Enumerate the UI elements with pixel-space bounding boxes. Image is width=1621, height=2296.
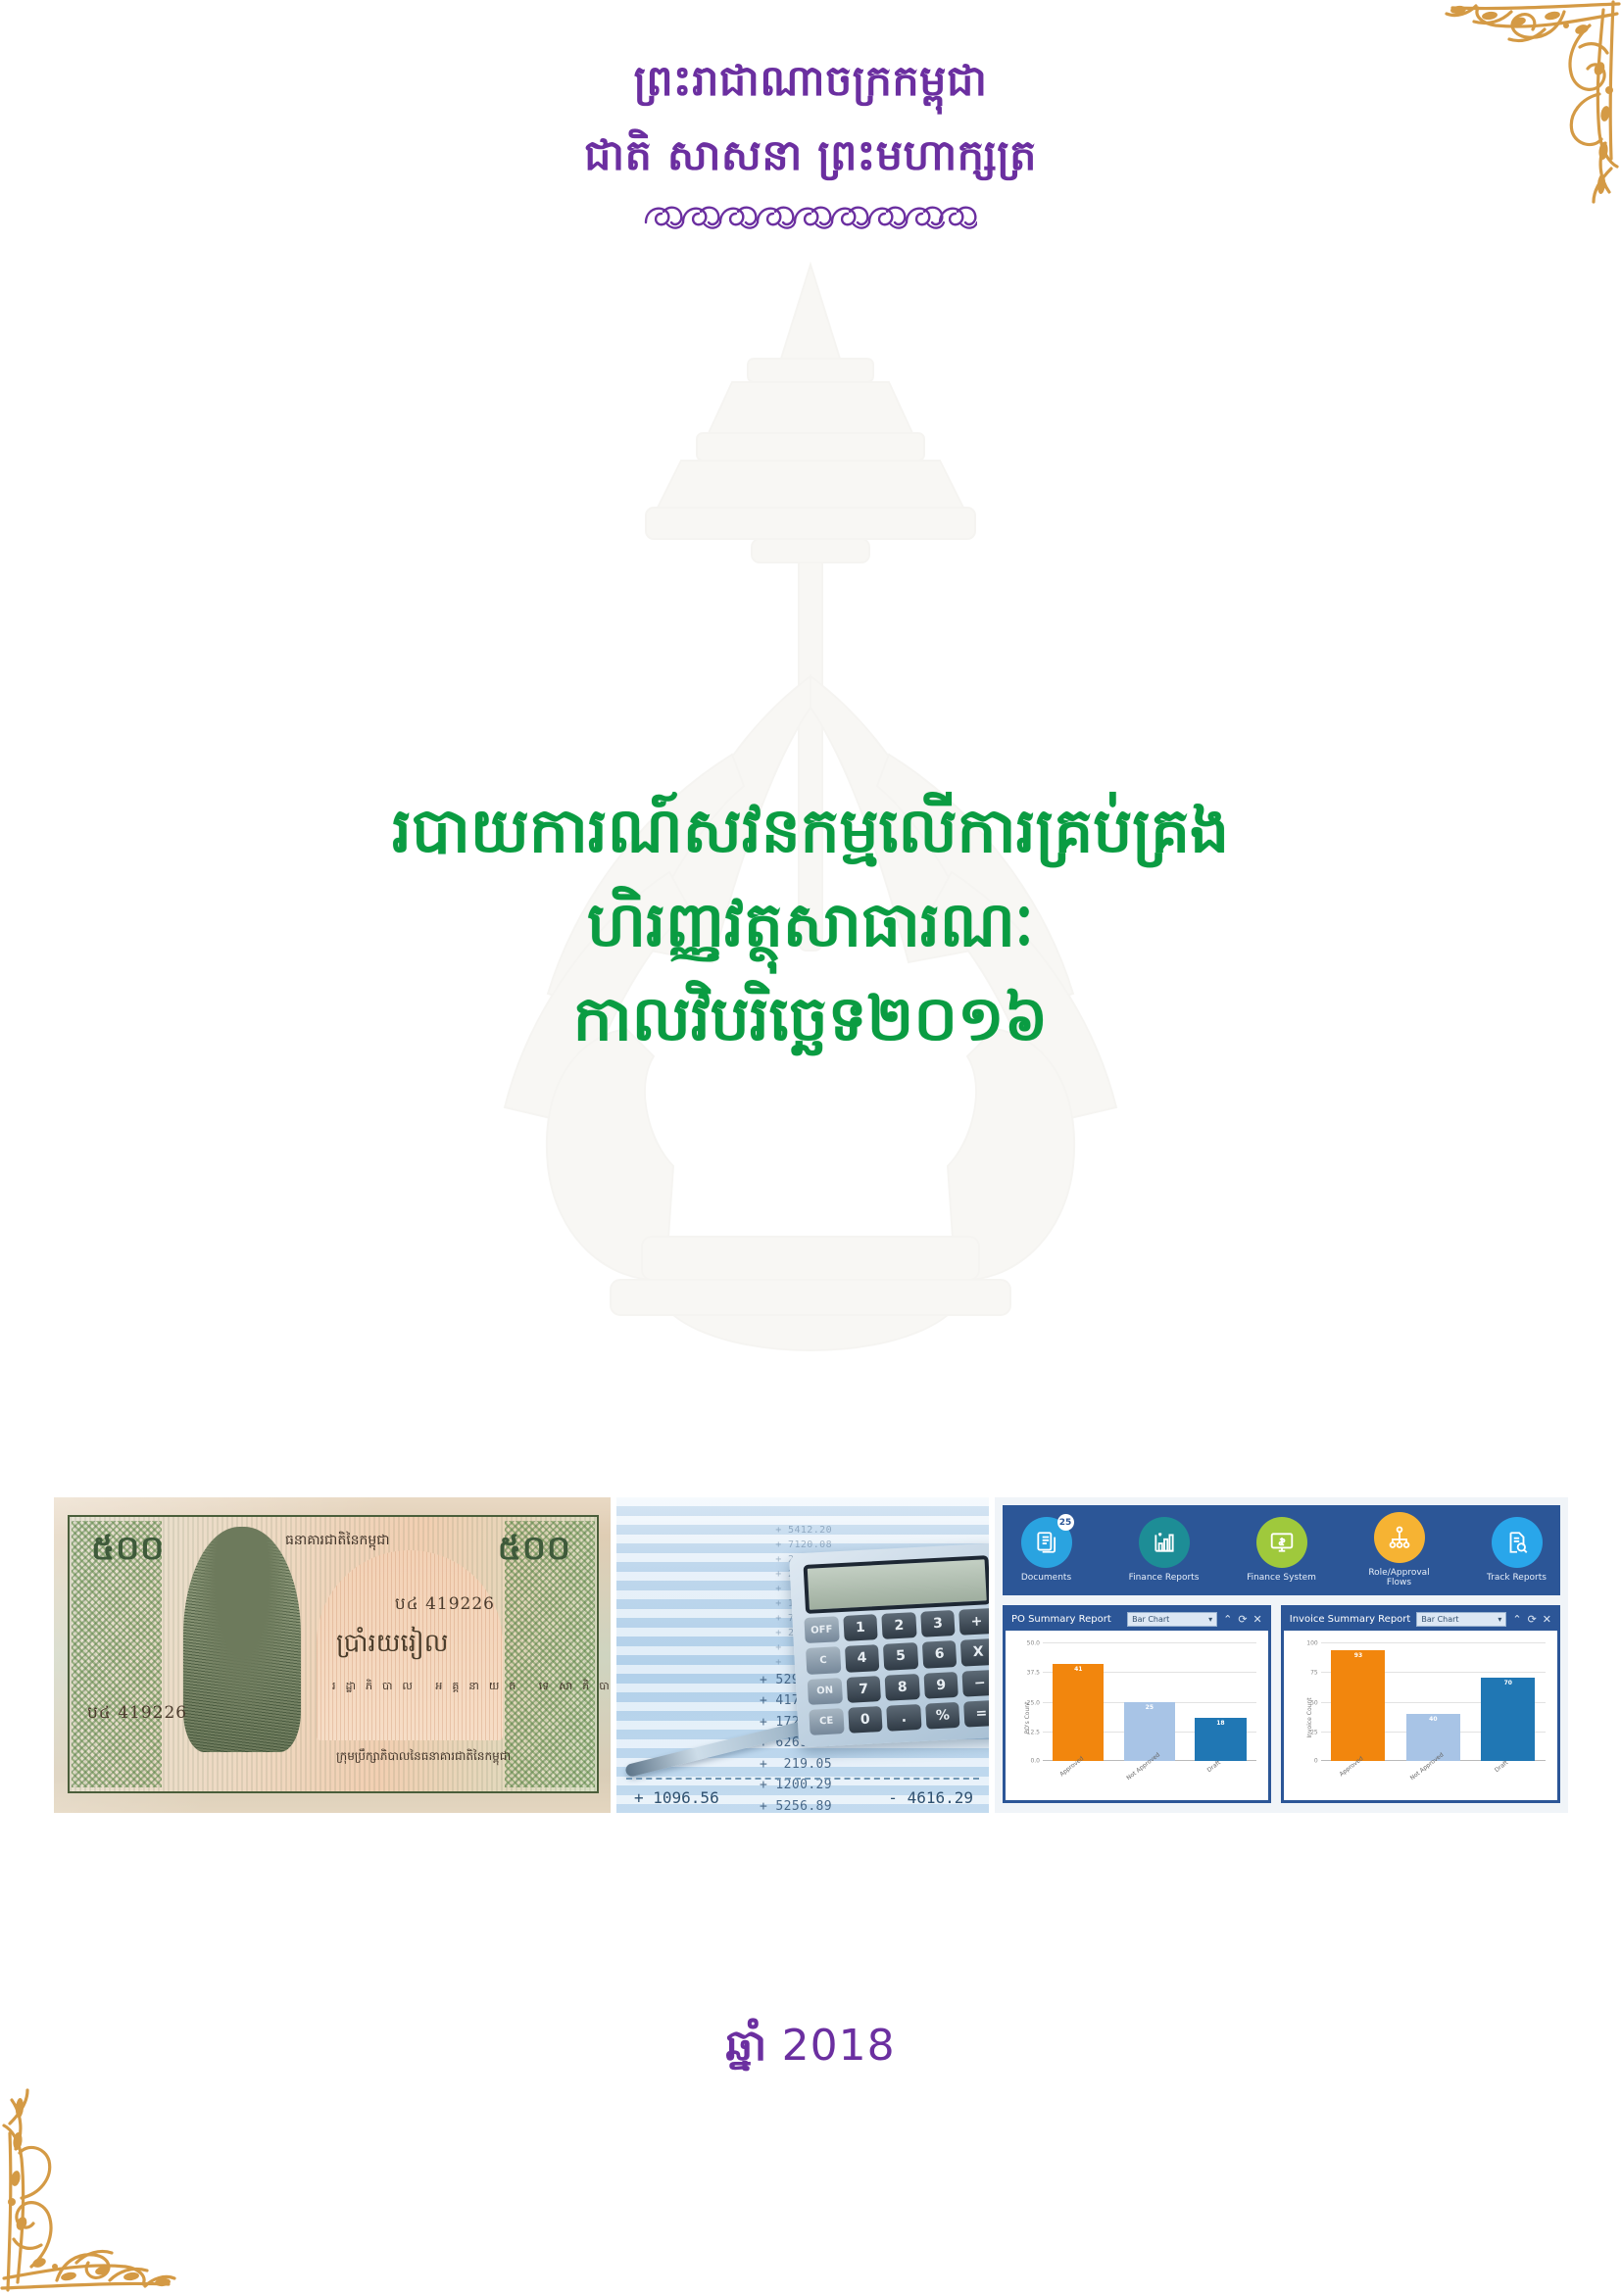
dashboard-photo: 25 Documents Finance Reports [995,1497,1568,1813]
bar-value: 70 [1481,1680,1535,1686]
calculator-keypad: OFF 1 2 3 + C 4 5 6 X ON 7 8 9 − CE 0 . … [804,1608,989,1735]
publication-year: ឆ្នាំ 2018 [0,2019,1621,2081]
document-search-icon[interactable] [1492,1517,1543,1568]
dashboard-tile-label: Role/Approval Flows [1357,1569,1442,1588]
ledger-total-left: + 1096.56 [634,1788,719,1807]
y-tick: 37.5 [1027,1670,1040,1677]
y-tick: 12.5 [1027,1729,1040,1735]
y-tick: 0 [1314,1758,1318,1765]
banknote-serial-lower: ប៤ 419226 [87,1702,187,1727]
kingdom-line-1: ព្រះរាជាណាចក្រកម្ពុជា [0,51,1621,112]
collapse-icon[interactable]: ⌃ [1223,1613,1232,1626]
banknote-photo: ៥០០ ៥០០ ធនាគារជាតិនៃកម្ពុជា ប្រាំរយរៀល រ… [54,1497,611,1813]
calculator-key-multiply[interactable]: X [960,1638,989,1666]
panel-body: Invoice Count 100 75 50 25 0 93 40 70 [1284,1631,1557,1800]
banknote-bank-name: ធនាគារជាតិនៃកម្ពុជា [285,1531,390,1551]
year-value: 2018 [782,2021,896,2071]
calculator-key-minus[interactable]: − [962,1669,989,1696]
invoice-summary-bar-chart: Invoice Count 100 75 50 25 0 93 40 70 [1292,1640,1549,1794]
chart-x-labels: Approved Not Approved Draft [1321,1761,1546,1788]
calculator-key-plus[interactable]: + [959,1608,989,1636]
y-tick: 50 [1310,1699,1318,1706]
close-icon[interactable]: ✕ [1253,1613,1262,1626]
ledger-dashed-rule [626,1778,979,1780]
khmer-flourish-divider-icon [644,201,977,234]
calculator-key-9[interactable]: 9 [923,1671,958,1698]
dashboard-tile-finance-reports[interactable]: Finance Reports [1122,1517,1206,1584]
bar: 41 [1053,1664,1104,1761]
bar-value: 93 [1331,1652,1385,1659]
y-tick: 100 [1306,1640,1317,1647]
calculator-key-0[interactable]: 0 [848,1706,883,1734]
year-label: ឆ្នាំ [725,2021,766,2071]
chart-x-labels: Approved Not Approved Draft [1043,1761,1256,1788]
bar: 70 [1481,1678,1535,1761]
banknote-denomination-left: ៥០០ [91,1527,165,1576]
calculator-key-ce[interactable]: CE [809,1708,844,1735]
dashboard-tile-label: Documents [1005,1574,1089,1584]
refresh-icon[interactable]: ⟳ [1238,1613,1247,1626]
chart-plot-area: 100 75 50 25 0 93 40 70 [1321,1642,1546,1761]
dashboard-tile-bar: 25 Documents Finance Reports [1003,1505,1560,1595]
calculator-key-4[interactable]: 4 [845,1644,880,1672]
ledger-totals: + 1096.56 - 4616.29 [634,1788,973,1807]
chart-type-value: Bar Chart [1132,1615,1169,1624]
org-flow-icon[interactable] [1374,1512,1425,1563]
cover-photo-strip: ៥០០ ៥០០ ធនាគារជាតិនៃកម្ពុជា ប្រាំរយរៀល រ… [54,1497,1568,1813]
chart-bars: 93 40 70 [1321,1642,1546,1761]
calculator-device: OFF 1 2 3 + C 4 5 6 X ON 7 8 9 − CE 0 . … [789,1543,989,1748]
collapse-icon[interactable]: ⌃ [1512,1613,1521,1626]
title-line-2: ហិរញ្ញវត្ថុសាធារណៈ [0,878,1621,972]
calculator-photo: + 5412.20+ 7120.08+ 2294.31+ 2182.11+ 14… [616,1497,989,1813]
calculator-key-8[interactable]: 8 [885,1674,920,1701]
y-tick: 0.0 [1030,1758,1040,1765]
calculator-display [804,1555,989,1614]
calculator-key-dot[interactable]: . [886,1704,921,1732]
calculator-key-7[interactable]: 7 [846,1676,881,1703]
title-line-3: កាលវិបរិច្ឆេទ២០១៦ [0,972,1621,1066]
title-line-1: របាយការណ៍សវនកម្មលើការគ្រប់គ្រង [0,784,1621,878]
bar-value: 40 [1406,1716,1460,1723]
panel-po-summary-report: PO Summary Report Bar Chart ▾ ⌃ ⟳ ✕ PO's… [1003,1605,1271,1803]
dashboard-tile-label: Finance System [1240,1574,1324,1584]
calculator-key-2[interactable]: 2 [881,1612,916,1639]
dashboard-tile-label: Finance Reports [1122,1574,1206,1584]
y-tick: 75 [1310,1670,1318,1677]
po-summary-bar-chart: PO's Count 50.0 37.5 25.0 12.5 0.0 41 25… [1013,1640,1260,1794]
dashboard-tile-documents[interactable]: 25 Documents [1005,1517,1089,1584]
dashboard-tile-track-reports[interactable]: Track Reports [1475,1517,1559,1584]
calculator-key-off[interactable]: OFF [804,1616,839,1643]
calculator-key-on[interactable]: ON [808,1678,843,1705]
banknote-value-words: ប្រាំរយរៀល [336,1627,449,1664]
bar: 18 [1195,1718,1246,1761]
bar: 40 [1406,1714,1460,1761]
calculator-key-percent[interactable]: % [925,1702,960,1730]
banknote-signature-labels: រដ្ឋាភិបាល អគ្គនាយក ទេសាភិបាល [332,1680,611,1695]
corner-ornament-bottom-left [0,2085,204,2296]
bar: 25 [1124,1702,1175,1762]
close-icon[interactable]: ✕ [1543,1613,1551,1626]
panel-header: Invoice Summary Report Bar Chart ▾ ⌃ ⟳ ✕ [1284,1608,1557,1631]
chart-type-value: Bar Chart [1421,1615,1458,1624]
chart-type-select[interactable]: Bar Chart ▾ [1416,1612,1506,1627]
dashboard-tile-role-approval-flows[interactable]: Role/Approval Flows [1357,1512,1442,1588]
chart-bars: 41 25 18 [1043,1642,1256,1761]
panel-invoice-summary-report: Invoice Summary Report Bar Chart ▾ ⌃ ⟳ ✕… [1281,1605,1560,1803]
chart-plot-area: 50.0 37.5 25.0 12.5 0.0 41 25 18 [1043,1642,1256,1761]
calculator-key-equals[interactable]: = [963,1700,989,1728]
chevron-down-icon[interactable]: ▾ [1498,1615,1501,1624]
calculator-key-5[interactable]: 5 [883,1642,918,1670]
bar-value: 25 [1124,1704,1175,1711]
chart-type-select[interactable]: Bar Chart ▾ [1127,1612,1217,1627]
banknote-portrait [183,1527,301,1752]
panel-title: PO Summary Report [1011,1614,1121,1625]
ledger-total-right: - 4616.29 [888,1788,973,1807]
kingdom-header: ព្រះរាជាណាចក្រកម្ពុជា ជាតិ សាសនា ព្រះមហា… [0,51,1621,234]
bar-value: 41 [1053,1666,1104,1673]
calculator-key-1[interactable]: 1 [843,1614,878,1641]
banknote-footer-text: ក្រុមប្រឹក្សាភិបាលនៃធនាគារជាតិនៃកម្ពុជា [336,1748,511,1766]
y-tick: 25 [1310,1729,1318,1735]
y-tick: 50.0 [1027,1640,1040,1647]
panel-body: PO's Count 50.0 37.5 25.0 12.5 0.0 41 25… [1006,1631,1268,1800]
calculator-key-3[interactable]: 3 [920,1610,956,1637]
report-title: របាយការណ៍សវនកម្មលើការគ្រប់គ្រង ហិរញ្ញវត្… [0,784,1621,1065]
banknote-serial-upper: ប៤ 419226 [395,1593,495,1618]
bar-chart-dollar-icon[interactable] [1139,1517,1190,1568]
y-tick: 25.0 [1027,1699,1040,1706]
calculator-key-6[interactable]: 6 [922,1640,958,1668]
dashboard-tile-finance-system[interactable]: Finance System [1240,1517,1324,1584]
bar-value: 18 [1195,1720,1246,1727]
panel-header: PO Summary Report Bar Chart ▾ ⌃ ⟳ ✕ [1006,1608,1268,1631]
bar: 93 [1331,1650,1385,1761]
kingdom-line-2: ជាតិ សាសនា ព្រះមហាក្សត្រ [0,125,1621,186]
dashboard-panels: PO Summary Report Bar Chart ▾ ⌃ ⟳ ✕ PO's… [1003,1605,1560,1803]
banknote-denomination-right: ៥០០ [498,1527,571,1576]
monitor-dollar-icon[interactable] [1256,1517,1307,1568]
refresh-icon[interactable]: ⟳ [1528,1613,1537,1626]
documents-badge: 25 [1057,1514,1074,1531]
calculator-key-clear[interactable]: C [806,1646,841,1674]
dashboard-tile-label: Track Reports [1475,1574,1559,1584]
chevron-down-icon[interactable]: ▾ [1208,1615,1212,1624]
documents-icon[interactable]: 25 [1021,1517,1072,1568]
panel-title: Invoice Summary Report [1290,1614,1411,1625]
